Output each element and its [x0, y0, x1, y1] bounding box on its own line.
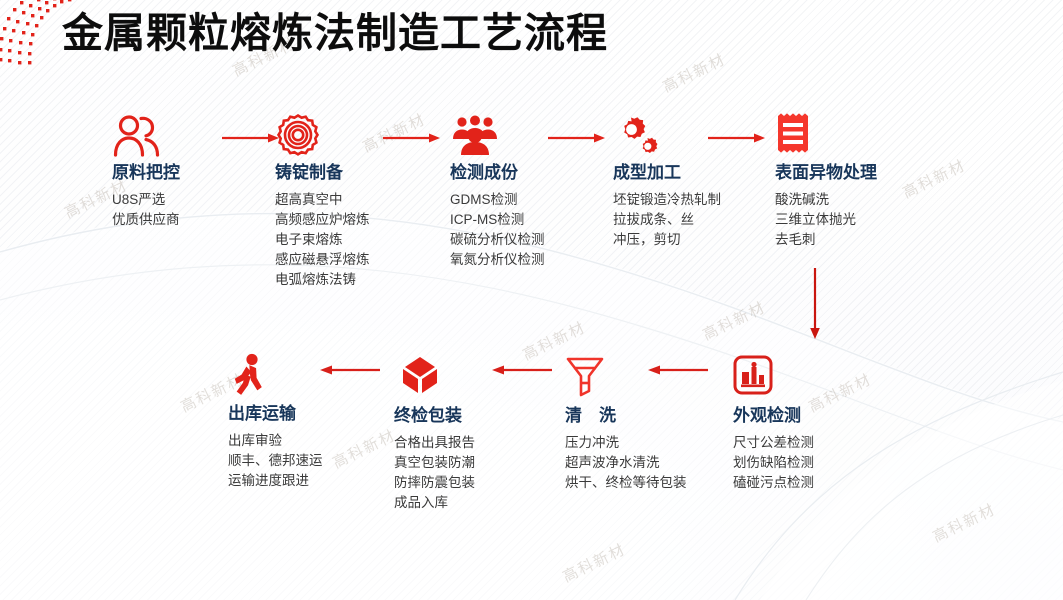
- watermark: 高科新材: [659, 48, 729, 97]
- step-detail-line: 碳硫分析仪检测: [450, 230, 610, 250]
- connector-arrow-right: [708, 132, 766, 144]
- document-lines-icon: [775, 112, 925, 158]
- step-detail-line: 超高真空中: [275, 190, 440, 210]
- step-detail-list: 出库审验 顺丰、德邦速运 运输进度跟进: [228, 431, 368, 491]
- step-detail-line: ICP-MS检测: [450, 210, 610, 230]
- step-detail-line: 压力冲洗: [565, 433, 687, 453]
- step-detail-list: 尺寸公差检测 划伤缺陷检测 磕碰污点检测: [733, 433, 883, 493]
- step-title: 原料把控: [112, 162, 262, 184]
- step-detail-line: 防摔防震包装: [394, 473, 534, 493]
- step-detail-line: 电子束熔炼: [275, 230, 440, 250]
- step-detail-line: 磕碰污点检测: [733, 473, 883, 493]
- step-detail-line: GDMS检测: [450, 190, 610, 210]
- step-detail-list: 合格出具报告 真空包装防潮 防摔防震包装 成品入库: [394, 433, 534, 513]
- step-detail-line: 酸洗碱洗: [775, 190, 925, 210]
- page-title: 金属颗粒熔炼法制造工艺流程: [62, 6, 608, 60]
- step-outbound-shipping[interactable]: 出库运输 出库审验 顺丰、德邦速运 运输进度跟进: [228, 353, 368, 491]
- step-detail-line: 成品入库: [394, 493, 534, 513]
- step-detail-list: 酸洗碱洗 三维立体抛光 去毛刺: [775, 190, 925, 250]
- connector-arrow-down: [808, 268, 822, 340]
- watermark: 高科新材: [929, 498, 999, 547]
- step-detail-line: 拉拔成条、丝: [613, 210, 778, 230]
- step-detail-line: 尺寸公差检测: [733, 433, 883, 453]
- step-title: 表面异物处理: [775, 162, 925, 184]
- connector-arrow-right: [548, 132, 606, 144]
- funnel-icon: [565, 355, 687, 401]
- step-title: 外观检测: [733, 405, 883, 427]
- step-title: 检测成份: [450, 162, 610, 184]
- walking-person-icon: [228, 353, 368, 399]
- step-detail-line: 超声波净水清洗: [565, 453, 687, 473]
- step-title: 终检包装: [394, 405, 534, 427]
- step-surface-treatment[interactable]: 表面异物处理 酸洗碱洗 三维立体抛光 去毛刺: [775, 112, 925, 250]
- step-final-inspection-packaging[interactable]: 终检包装 合格出具报告 真空包装防潮 防摔防震包装 成品入库: [394, 355, 534, 513]
- step-detail-line: 坯锭锻造冷热轧制: [613, 190, 778, 210]
- step-detail-list: 坯锭锻造冷热轧制 拉拔成条、丝 冲压，剪切: [613, 190, 778, 250]
- step-detail-line: 运输进度跟进: [228, 471, 368, 491]
- step-detail-line: 电弧熔炼法铸: [275, 270, 440, 290]
- step-title: 清 洗: [565, 405, 687, 427]
- step-detail-line: 去毛刺: [775, 230, 925, 250]
- watermark: 高科新材: [559, 538, 629, 587]
- step-appearance-inspection[interactable]: 外观检测 尺寸公差检测 划伤缺陷检测 磕碰污点检测: [733, 355, 883, 493]
- step-detail-line: 高频感应炉熔炼: [275, 210, 440, 230]
- step-cleaning[interactable]: 清 洗 压力冲洗 超声波净水清洗 烘干、终检等待包装: [565, 355, 687, 493]
- step-title: 铸锭制备: [275, 162, 440, 184]
- step-detail-line: 烘干、终检等待包装: [565, 473, 687, 493]
- open-box-icon: [394, 355, 534, 401]
- step-detail-line: U8S严选: [112, 190, 262, 210]
- step-detail-line: 感应磁悬浮熔炼: [275, 250, 440, 270]
- step-detail-line: 真空包装防潮: [394, 453, 534, 473]
- step-detail-line: 顺丰、德邦速运: [228, 451, 368, 471]
- step-detail-line: 冲压，剪切: [613, 230, 778, 250]
- step-detail-line: 合格出具报告: [394, 433, 534, 453]
- step-title: 成型加工: [613, 162, 778, 184]
- step-detail-line: 优质供应商: [112, 210, 262, 230]
- watermark: 高科新材: [699, 296, 769, 345]
- step-detail-list: 超高真空中 高频感应炉熔炼 电子束熔炼 感应磁悬浮熔炼 电弧熔炼法铸: [275, 190, 440, 290]
- connector-arrow-right: [222, 132, 280, 144]
- step-title: 出库运输: [228, 403, 368, 425]
- step-detail-line: 划伤缺陷检测: [733, 453, 883, 473]
- step-detail-list: U8S严选 优质供应商: [112, 190, 262, 230]
- step-detail-list: 压力冲洗 超声波净水清洗 烘干、终检等待包装: [565, 433, 687, 493]
- step-raw-material-control[interactable]: 原料把控 U8S严选 优质供应商: [112, 112, 262, 230]
- connector-arrow-right: [383, 132, 441, 144]
- step-detail-line: 氧氮分析仪检测: [450, 250, 610, 270]
- step-detail-list: GDMS检测 ICP-MS检测 碳硫分析仪检测 氧氮分析仪检测: [450, 190, 610, 270]
- inspection-frame-icon: [733, 355, 883, 401]
- step-detail-line: 三维立体抛光: [775, 210, 925, 230]
- step-detail-line: 出库审验: [228, 431, 368, 451]
